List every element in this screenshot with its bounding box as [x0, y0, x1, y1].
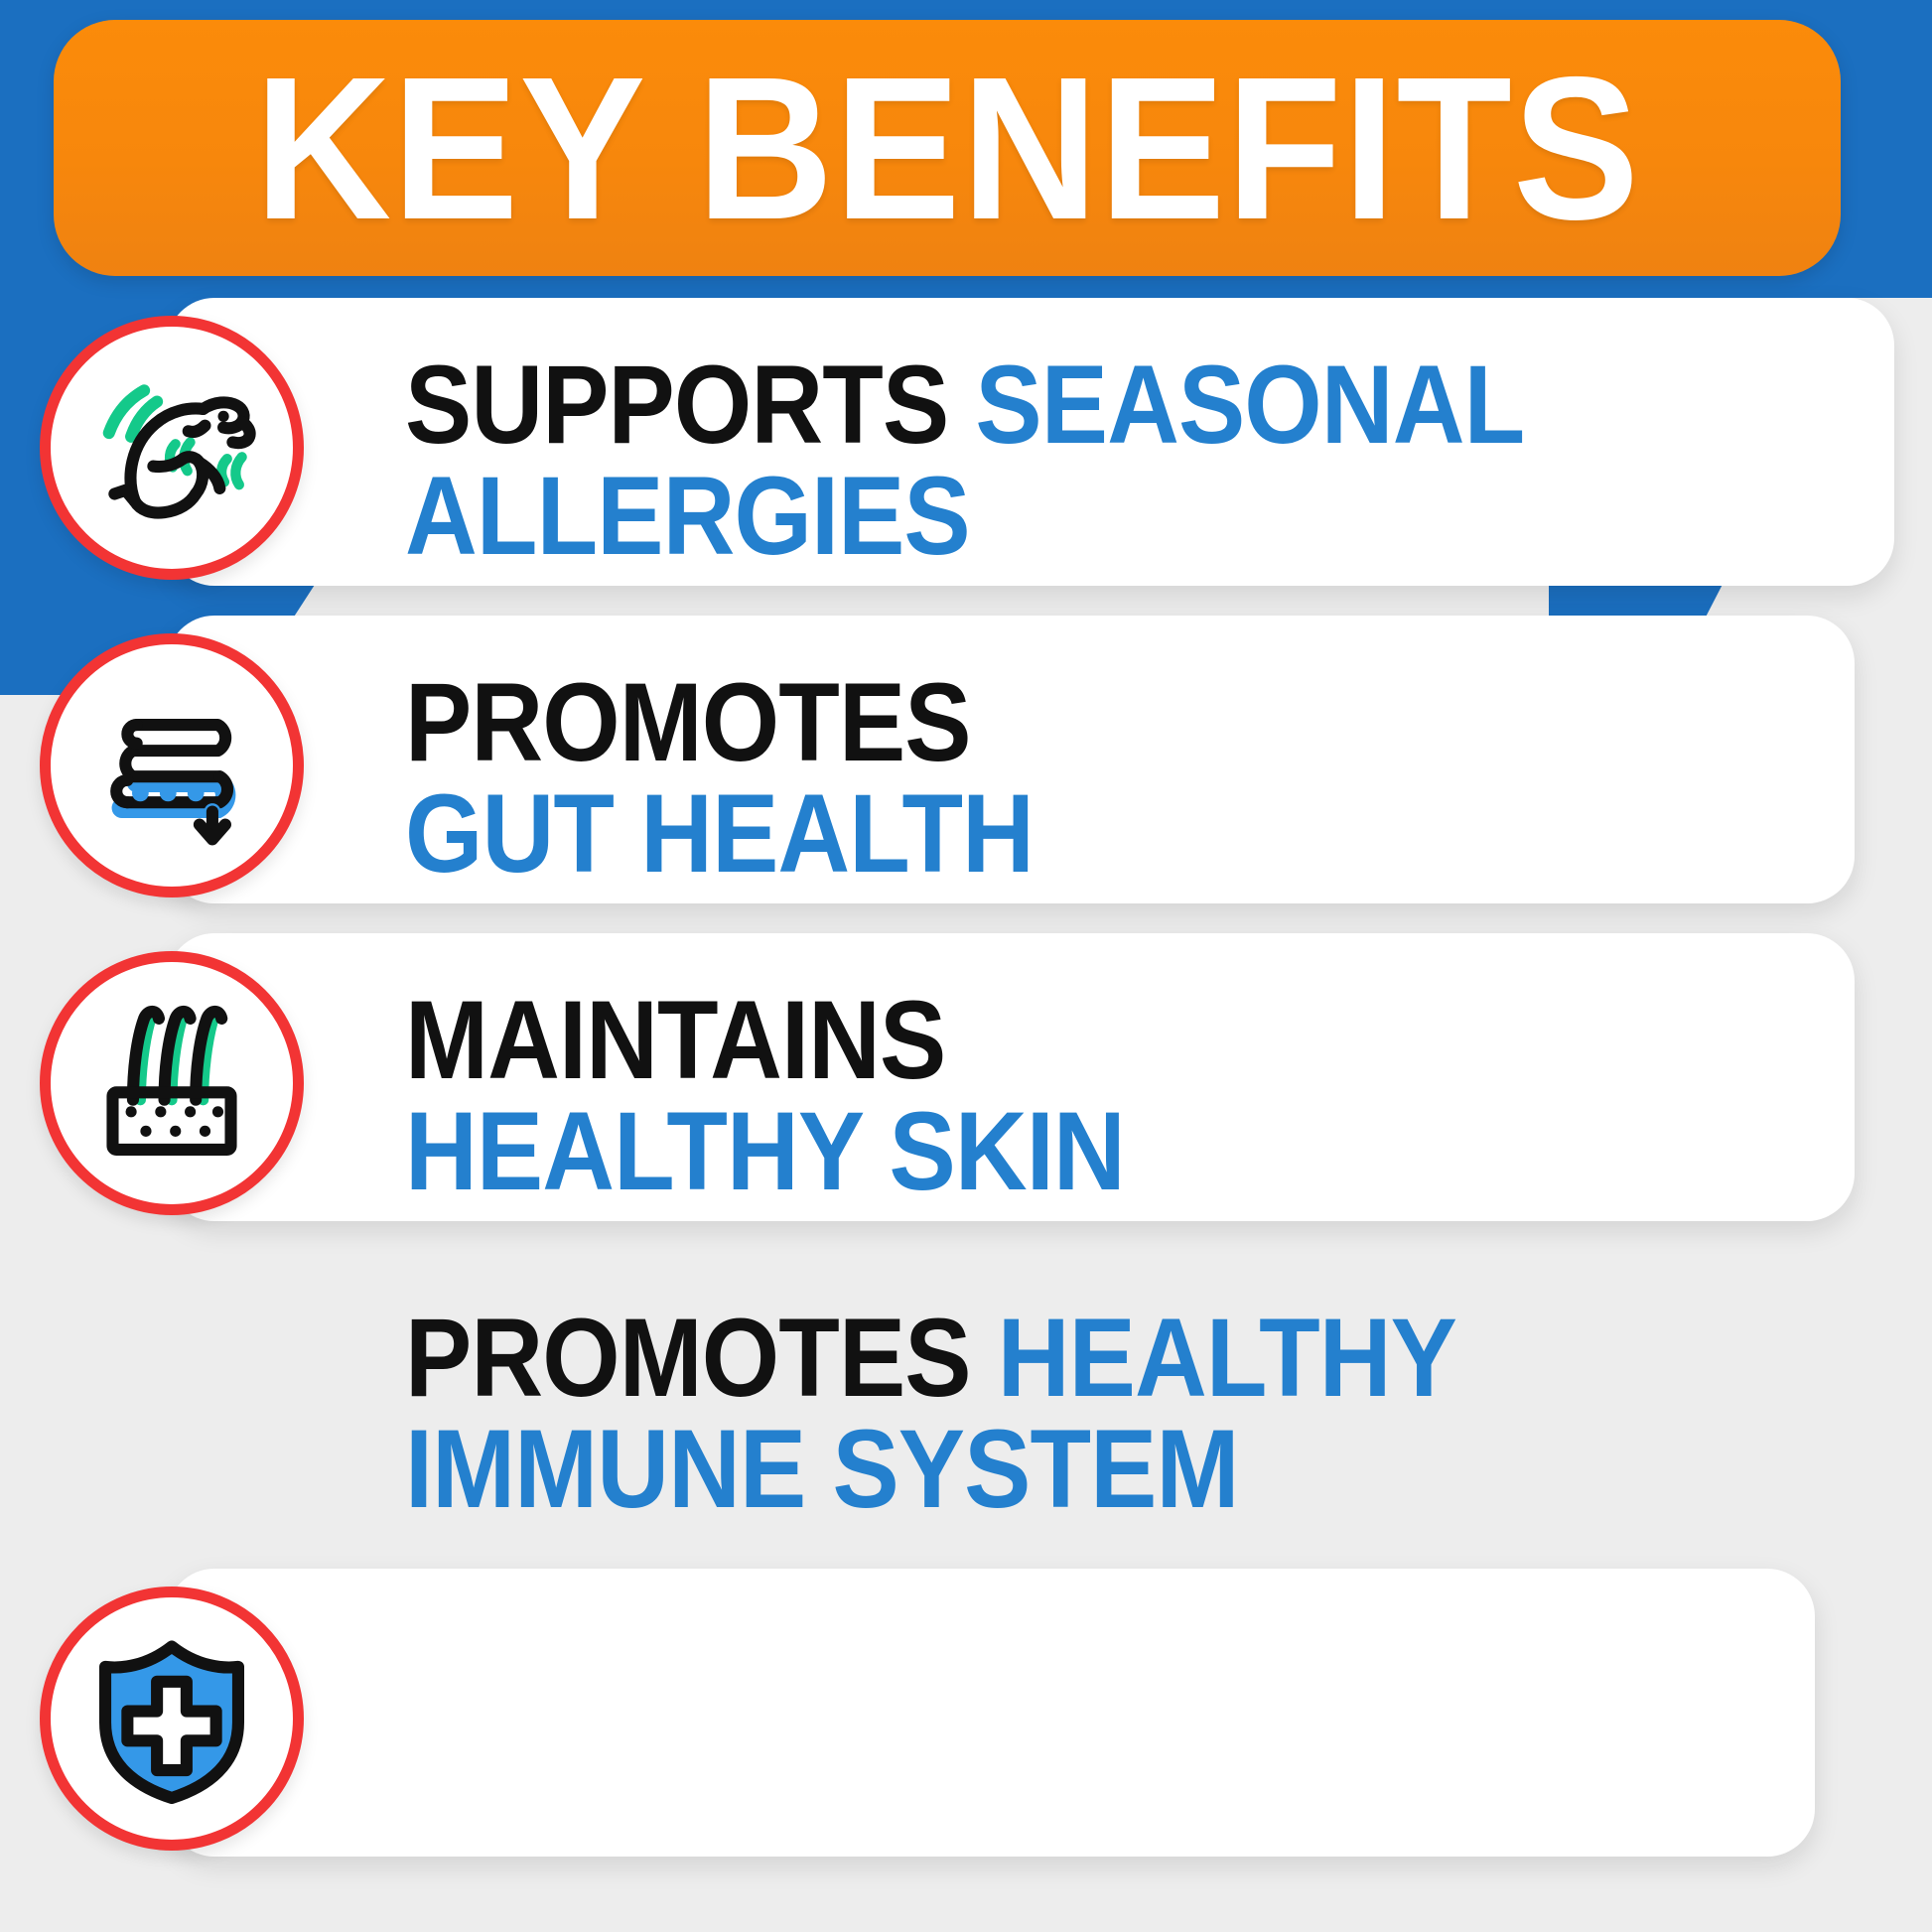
- benefit-label-allergies: SUPPORTS SEASONAL ALLERGIES: [405, 349, 1524, 572]
- benefit-label-gut-health: PROMOTES GUT HEALTH: [405, 667, 1034, 890]
- benefit-2-line2-blue: GUT HEALTH: [405, 771, 1034, 896]
- page-title: KEY BENEFITS: [254, 47, 1639, 250]
- benefit-3-line1-dark: MAINTAINS: [405, 978, 945, 1102]
- benefit-4-line1-blue: HEALTHY: [998, 1296, 1456, 1420]
- scratching-dog-icon: [40, 316, 304, 580]
- infographic-canvas: KEY BENEFITS: [0, 0, 1932, 1932]
- benefit-label-immune-system: PROMOTES HEALTHY IMMUNE SYSTEM: [405, 1303, 1456, 1525]
- benefit-2-line1-dark: PROMOTES: [405, 660, 971, 784]
- key-benefits-header-banner: KEY BENEFITS: [54, 20, 1841, 276]
- benefit-card-immune-system: [167, 1569, 1815, 1857]
- benefit-4-line2-blue: IMMUNE SYSTEM: [405, 1407, 1239, 1531]
- benefit-1-line1-dark: SUPPORTS: [405, 343, 975, 467]
- benefit-1-line2-blue: ALLERGIES: [405, 454, 970, 578]
- benefit-label-healthy-skin: MAINTAINS HEALTHY SKIN: [405, 985, 1125, 1207]
- intestine-gut-icon: [40, 633, 304, 897]
- shield-cross-immune-icon: [40, 1587, 304, 1851]
- hair-follicle-skin-icon: [40, 951, 304, 1215]
- benefit-4-line1-dark: PROMOTES: [405, 1296, 998, 1420]
- benefit-1-line1-blue: SEASONAL: [975, 343, 1524, 467]
- benefit-3-line2-blue: HEALTHY SKIN: [405, 1089, 1125, 1213]
